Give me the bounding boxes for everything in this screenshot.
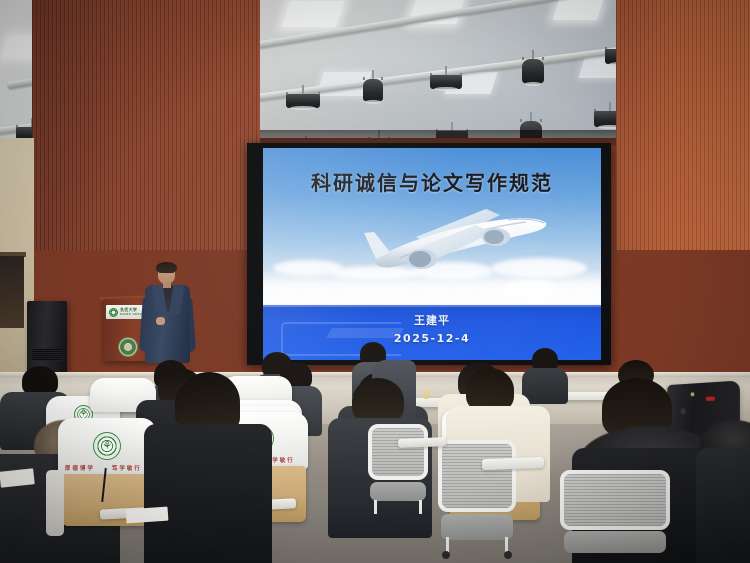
- sea-highlight: [263, 305, 601, 307]
- person-torso: [522, 368, 568, 404]
- auditorium-seat[interactable]: ⚘ 厚德博学 笃学敏行: [58, 418, 156, 478]
- notepad: [126, 507, 169, 524]
- speaker-grille: [32, 349, 62, 361]
- chair-back: [560, 470, 670, 530]
- airplane-graphic: [358, 203, 563, 283]
- stage-light-fixture: [286, 85, 320, 109]
- podium-emblem: [118, 337, 138, 357]
- stage-light-fixture: [363, 70, 383, 102]
- chair-seat: [370, 482, 425, 502]
- chair-back: [368, 424, 428, 480]
- presenter-glasses: [159, 272, 174, 277]
- tablet-arm: [398, 437, 446, 448]
- person-torso: [696, 448, 750, 563]
- chair-legs: [374, 500, 422, 514]
- slide-speaker: 王建平: [263, 312, 601, 328]
- speaker-power-dot: [691, 392, 695, 396]
- person-torso: [144, 424, 272, 563]
- chair-caster: [442, 551, 450, 559]
- chair-legs: [446, 537, 508, 556]
- panel-light: [553, 0, 603, 20]
- stage-light-fixture: [522, 50, 544, 84]
- seat-motto-left: 厚德博学: [65, 464, 104, 472]
- person-hair: [178, 372, 240, 432]
- floor-speaker: [27, 301, 67, 373]
- tablet-arm: [482, 457, 544, 470]
- wood-panel-left: [32, 0, 260, 250]
- speaker-cone-icon: [679, 407, 687, 416]
- lecture-hall-photo: 科研诚信与论文写作规范 王建平 2025-12-4 名优大学 NAME UNIV…: [0, 0, 750, 563]
- projection-screen[interactable]: 科研诚信与论文写作规范 王建平 2025-12-4: [263, 148, 601, 360]
- seat-armrest: [46, 470, 64, 536]
- panel-light: [282, 1, 344, 27]
- chair-caster: [504, 551, 512, 559]
- stage-light-fixture: [430, 66, 462, 90]
- chair-seat: [441, 514, 513, 540]
- slide-date: 2025-12-4: [263, 332, 601, 345]
- paper-cup: [423, 389, 430, 399]
- doorway: [0, 256, 24, 328]
- chair-back: [438, 440, 516, 512]
- speaker-led-indicator: [706, 397, 715, 401]
- crest-glyph: ⚘: [101, 440, 113, 452]
- chair-seat: [564, 531, 665, 552]
- wood-panel-right: [616, 0, 750, 250]
- slide-title: 科研诚信与论文写作规范: [263, 167, 601, 196]
- presenter-hand: [156, 317, 165, 325]
- mesh-office-chair[interactable]: [560, 470, 670, 563]
- university-crest-icon: [109, 308, 118, 317]
- projection-screen-frame: 科研诚信与论文写作规范 王建平 2025-12-4: [247, 143, 611, 365]
